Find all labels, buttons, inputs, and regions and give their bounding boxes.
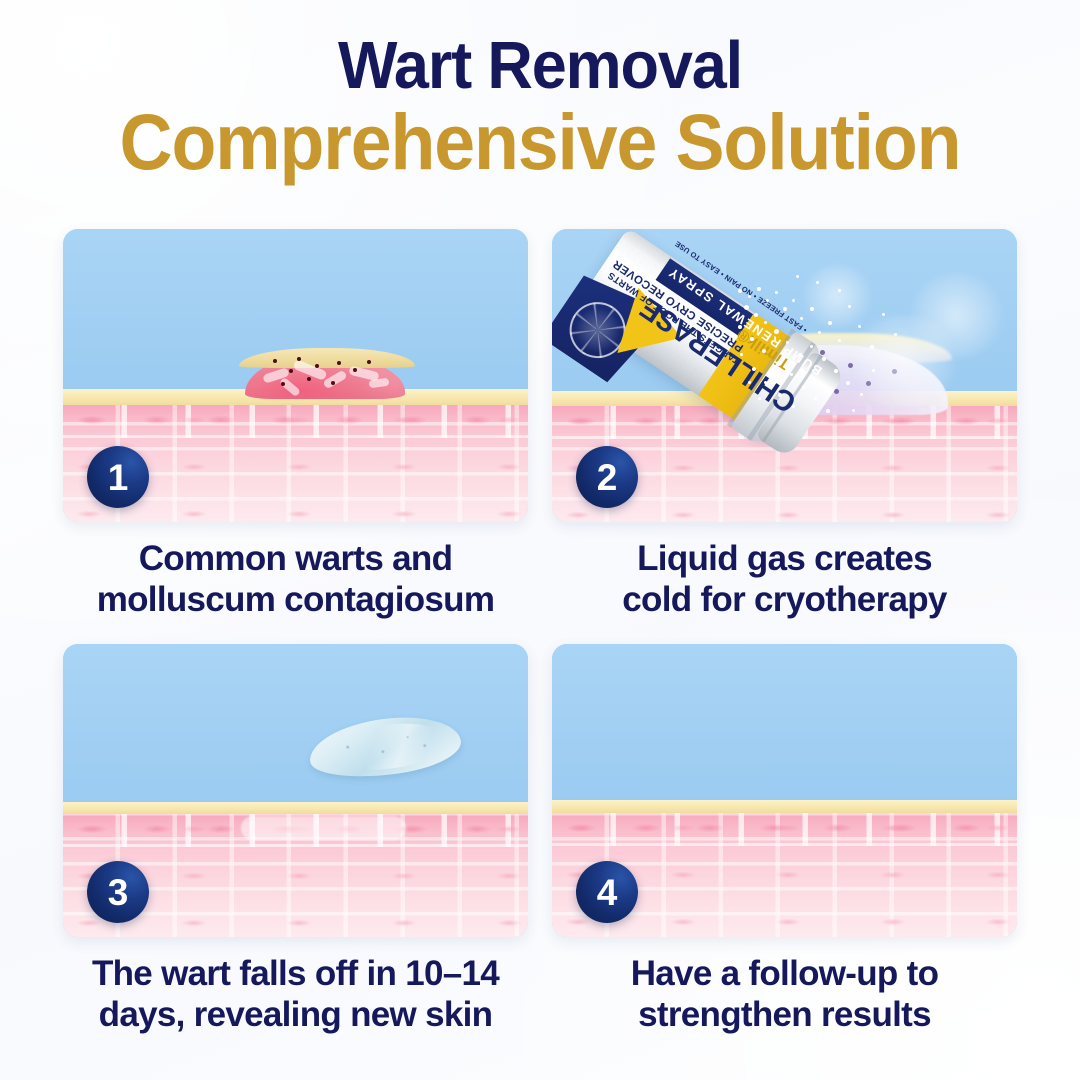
title-line-secondary: Comprehensive Solution [38, 104, 1042, 180]
step-caption-2-line1: Liquid gas creates [556, 539, 1013, 580]
infographic-poster: Wart Removal Comprehensive Solution [0, 0, 1080, 1080]
step-caption-3-line2: days, revealing new skin [67, 995, 524, 1036]
step-caption-1: Common warts and molluscum contagiosum [63, 539, 528, 620]
step-caption-4-line1: Have a follow-up to [556, 954, 1013, 995]
keratinocyte-row [552, 813, 1017, 846]
step-caption-4-line2: strengthen results [556, 995, 1013, 1036]
wart-lesion [245, 355, 405, 399]
step-card-2: BUMP RENEWAL SPRAY CHILLERASE Timilk® • … [552, 229, 1017, 620]
step-badge-1: 1 [87, 446, 149, 508]
steps-grid: 1 Common warts and molluscum contagiosum [63, 229, 1017, 1035]
step-caption-3: The wart falls off in 10–14 days, reveal… [63, 954, 528, 1035]
mist-cloud [904, 273, 1008, 359]
step-badge-3: 3 [87, 861, 149, 923]
step-4-illustration: 4 [552, 644, 1017, 937]
step-badge-2: 2 [576, 446, 638, 508]
title-line-primary: Wart Removal [32, 34, 1047, 98]
step-caption-1-line2: molluscum contagiosum [67, 580, 524, 621]
step-card-1: 1 Common warts and molluscum contagiosum [63, 229, 528, 620]
step-card-3: 3 The wart falls off in 10–14 days, reve… [63, 644, 528, 1035]
step-caption-2-line2: cold for cryotherapy [556, 580, 1013, 621]
wart-dots [245, 355, 405, 399]
step-caption-1-line1: Common warts and [67, 539, 524, 580]
sky-layer [552, 644, 1017, 804]
page-title: Wart Removal Comprehensive Solution [0, 34, 1080, 180]
step-3-illustration: 3 [63, 644, 528, 937]
step-2-illustration: BUMP RENEWAL SPRAY CHILLERASE Timilk® • … [552, 229, 1017, 522]
step-card-4: 4 Have a follow-up to strengthen results [552, 644, 1017, 1035]
step-badge-4: 4 [576, 861, 638, 923]
step-caption-2: Liquid gas creates cold for cryotherapy [552, 539, 1017, 620]
epidermis-layer [552, 800, 1017, 813]
step-1-illustration: 1 [63, 229, 528, 522]
step-caption-3-line1: The wart falls off in 10–14 [67, 954, 524, 995]
step-caption-4: Have a follow-up to strengthen results [552, 954, 1017, 1035]
epidermis-layer [63, 802, 528, 814]
healing-tissue [241, 816, 406, 840]
keratinocyte-row [63, 405, 528, 438]
sky-layer [63, 644, 528, 806]
